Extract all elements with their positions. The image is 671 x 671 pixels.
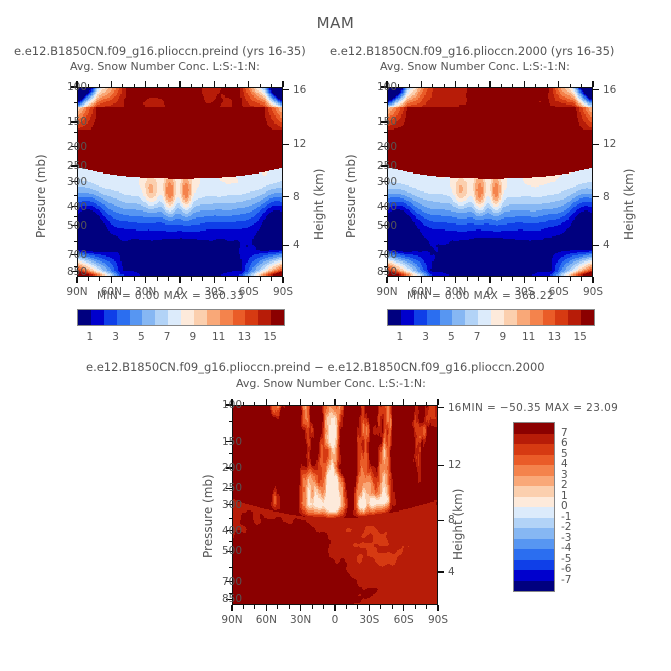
ytick-label-right: 12 <box>603 138 616 150</box>
xtick-minor-top <box>254 402 255 406</box>
xtick-label: 90N <box>376 286 397 298</box>
xtick-minor-top <box>346 402 347 406</box>
xtick-mark <box>179 277 180 283</box>
colorbar-swatch <box>258 310 271 325</box>
colorbar-swatch <box>514 518 554 529</box>
xtick-minor-top <box>237 84 238 88</box>
panel-diff-title: e.e12.B1850CN.f09_g16.plioccn.preind − e… <box>86 360 545 374</box>
xtick-minor-top <box>467 84 468 88</box>
xtick-minor <box>157 277 158 281</box>
xtick-minor-top <box>271 84 272 88</box>
xtick-minor-top <box>570 84 571 88</box>
xtick-minor <box>512 277 513 281</box>
ytick-label-right: 12 <box>448 459 461 471</box>
xtick-mark-top <box>214 81 215 87</box>
xtick-mark-top <box>524 81 525 87</box>
xtick-mark-top <box>369 399 370 405</box>
xtick-minor <box>357 605 358 609</box>
ytick-label-right: 16 <box>603 84 616 96</box>
xtick-minor-top <box>415 402 416 406</box>
ytick-minor-left <box>229 593 233 594</box>
ytick-label-right: 4 <box>448 566 455 578</box>
panel-diff-variable-title: Avg. Snow Number Conc. L:S:-1:N: <box>236 377 426 390</box>
heatmap-field <box>78 88 282 276</box>
ytick-mark-right <box>283 245 289 246</box>
colorbar-swatch <box>504 310 517 325</box>
ytick-minor-left <box>384 241 388 242</box>
xtick-mark <box>592 277 593 283</box>
xtick-mark-top <box>489 81 490 87</box>
ytick-label-right: 4 <box>293 239 300 251</box>
xtick-minor <box>237 277 238 281</box>
xtick-minor-top <box>398 84 399 88</box>
xtick-minor-top <box>202 84 203 88</box>
xtick-minor-top <box>547 84 548 88</box>
colorbar-swatch <box>555 310 568 325</box>
xtick-label: 30N <box>135 286 156 298</box>
panel-case1-plot-area[interactable] <box>77 87 283 277</box>
xtick-minor-top <box>380 402 381 406</box>
colorbar-swatch <box>514 549 554 560</box>
ytick-minor-left <box>74 132 78 133</box>
xtick-label: 30S <box>204 286 224 298</box>
xtick-mark <box>214 277 215 283</box>
xtick-minor <box>398 277 399 281</box>
ytick-minor-left <box>229 541 233 542</box>
xtick-minor <box>392 605 393 609</box>
xtick-minor <box>581 277 582 281</box>
xtick-mark <box>231 605 232 611</box>
xtick-minor-top <box>289 402 290 406</box>
panel-diff-plot-area[interactable] <box>232 405 438 605</box>
xtick-mark <box>111 277 112 283</box>
xtick-label: 60N <box>256 614 277 626</box>
colorbar-swatches-vertical <box>513 422 555 592</box>
xtick-minor <box>547 277 548 281</box>
xtick-minor <box>88 277 89 281</box>
xtick-mark-top <box>266 399 267 405</box>
xtick-minor <box>202 277 203 281</box>
xtick-label: 60N <box>411 286 432 298</box>
colorbar-tick-label: 13 <box>548 331 561 343</box>
xtick-label: 60S <box>239 286 259 298</box>
xtick-mark-top <box>145 81 146 87</box>
colorbar-swatch <box>514 455 554 466</box>
colorbar-tick-label: 3 <box>422 331 429 343</box>
xtick-label: 30N <box>445 286 466 298</box>
xtick-minor-top <box>432 84 433 88</box>
xtick-minor <box>432 277 433 281</box>
xtick-minor-top <box>191 84 192 88</box>
panel-case1-ylabel-left: Pressure (mb) <box>34 154 48 238</box>
colorbar-swatch <box>465 310 478 325</box>
xtick-label: 60S <box>394 614 414 626</box>
xtick-minor <box>243 605 244 609</box>
xtick-mark <box>455 277 456 283</box>
xtick-minor <box>380 605 381 609</box>
colorbar-swatch <box>491 310 504 325</box>
ytick-mark-right <box>438 520 444 521</box>
colorbar-swatch <box>543 310 556 325</box>
ytick-minor-left <box>74 102 78 103</box>
xtick-minor <box>254 605 255 609</box>
xtick-mark <box>437 605 438 611</box>
colorbar-swatch <box>207 310 220 325</box>
colorbar-swatches <box>77 309 285 326</box>
heatmap-field <box>233 406 437 604</box>
xtick-mark <box>558 277 559 283</box>
colorbar-swatch <box>117 310 130 325</box>
colorbar-swatch <box>91 310 104 325</box>
xtick-minor <box>289 605 290 609</box>
colorbar-tick-label: 7 <box>474 331 481 343</box>
xtick-label: 90N <box>66 286 87 298</box>
ytick-mark-right <box>593 245 599 246</box>
xtick-label: 60N <box>101 286 122 298</box>
colorbar-tick-label: 11 <box>212 331 225 343</box>
colorbar-swatch <box>181 310 194 325</box>
ytick-label-right: 12 <box>293 138 306 150</box>
xtick-minor-top <box>501 84 502 88</box>
xtick-minor <box>535 277 536 281</box>
xtick-minor-top <box>392 402 393 406</box>
xtick-label: 0 <box>332 614 339 626</box>
panel-diff-ylabel-left: Pressure (mb) <box>201 474 215 558</box>
xtick-mark <box>76 277 77 283</box>
xtick-mark-top <box>179 81 180 87</box>
ytick-minor-left <box>384 195 388 196</box>
xtick-minor-top <box>409 84 410 88</box>
xtick-mark-top <box>282 81 283 87</box>
colorbar-swatch <box>194 310 207 325</box>
ytick-minor-left <box>74 266 78 267</box>
xtick-minor-top <box>88 84 89 88</box>
ytick-label-right: 16 <box>293 84 306 96</box>
xtick-minor <box>277 605 278 609</box>
xtick-minor-top <box>122 84 123 88</box>
colorbar-swatch <box>514 476 554 487</box>
xtick-minor-top <box>134 84 135 88</box>
xtick-mark <box>266 605 267 611</box>
ytick-mark-right <box>593 196 599 197</box>
xtick-label: 30S <box>359 614 379 626</box>
colorbar-swatch <box>568 310 581 325</box>
colorbar-swatch <box>514 581 554 592</box>
xtick-mark <box>248 277 249 283</box>
xtick-label: 0 <box>487 286 494 298</box>
colorbar-swatch <box>517 310 530 325</box>
ytick-label-right: 8 <box>293 191 300 203</box>
colorbar-swatch <box>142 310 155 325</box>
xtick-minor-top <box>243 402 244 406</box>
colorbar-swatch <box>514 528 554 539</box>
xtick-minor <box>271 277 272 281</box>
colorbar-swatch <box>78 310 91 325</box>
colorbar-swatch <box>581 310 594 325</box>
xtick-mark-top <box>76 81 77 87</box>
season-title: MAM <box>0 14 671 32</box>
xtick-label: 60S <box>549 286 569 298</box>
colorbar-tick-label: 9 <box>500 331 507 343</box>
xtick-label: 30N <box>290 614 311 626</box>
xtick-minor <box>122 277 123 281</box>
ytick-minor-left <box>229 421 233 422</box>
ytick-minor-left <box>229 518 233 519</box>
colorbar-tick-label: 15 <box>263 331 276 343</box>
colorbar-swatch <box>401 310 414 325</box>
colorbar-swatch <box>427 310 440 325</box>
xtick-minor-top <box>157 84 158 88</box>
xtick-label: 30S <box>514 286 534 298</box>
xtick-label: 0 <box>177 286 184 298</box>
xtick-minor <box>134 277 135 281</box>
xtick-minor-top <box>357 402 358 406</box>
colorbar-tick-label: 11 <box>522 331 535 343</box>
colorbar-swatch <box>414 310 427 325</box>
ytick-mark-right <box>283 144 289 145</box>
xtick-minor <box>346 605 347 609</box>
ytick-label-right: 8 <box>448 514 455 526</box>
colorbar-tick-label: 5 <box>448 331 455 343</box>
xtick-minor-top <box>260 84 261 88</box>
xtick-mark <box>300 605 301 611</box>
xtick-minor-top <box>512 84 513 88</box>
colorbar-swatch <box>271 310 284 325</box>
colorbar-swatch <box>514 539 554 550</box>
xtick-mark-top <box>300 399 301 405</box>
xtick-mark-top <box>248 81 249 87</box>
colorbar-swatch <box>514 560 554 571</box>
xtick-minor <box>225 277 226 281</box>
panel-case2-ylabel-right: Height (km) <box>622 169 636 240</box>
colorbar-swatch <box>452 310 465 325</box>
colorbar-swatch <box>514 507 554 518</box>
colorbar-swatch <box>220 310 233 325</box>
xtick-mark-top <box>421 81 422 87</box>
ytick-mark-right <box>593 89 599 90</box>
panel-case1-ylabel-right: Height (km) <box>312 169 326 240</box>
xtick-mark-top <box>592 81 593 87</box>
colorbar-swatch <box>245 310 258 325</box>
ytick-minor-left <box>74 195 78 196</box>
xtick-minor-top <box>426 402 427 406</box>
colorbar-tick-label: -7 <box>561 574 571 586</box>
colorbar-swatch <box>168 310 181 325</box>
xtick-minor-top <box>444 84 445 88</box>
colorbar-swatch <box>530 310 543 325</box>
ytick-minor-left <box>74 216 78 217</box>
panel-diff-minmax: MIN = −50.35 MAX = 23.09 <box>462 402 618 414</box>
colorbar-tick-label: 13 <box>238 331 251 343</box>
ytick-mark-right <box>283 196 289 197</box>
xtick-minor <box>312 605 313 609</box>
ytick-mark-right <box>438 465 444 466</box>
colorbar-swatch <box>104 310 117 325</box>
xtick-mark-top <box>111 81 112 87</box>
xtick-minor <box>191 277 192 281</box>
colorbar-swatch <box>130 310 143 325</box>
colorbar-tick-label: 9 <box>190 331 197 343</box>
ytick-mark-right <box>283 89 289 90</box>
colorbar-swatch <box>514 570 554 581</box>
colorbar-swatch <box>514 434 554 445</box>
colorbar-swatch <box>514 444 554 455</box>
panel-case2-plot-area[interactable] <box>387 87 593 277</box>
xtick-label: 90N <box>221 614 242 626</box>
xtick-minor <box>501 277 502 281</box>
xtick-mark-top <box>334 399 335 405</box>
colorbar-swatch <box>514 486 554 497</box>
xtick-label: 90S <box>583 286 603 298</box>
ytick-minor-left <box>384 266 388 267</box>
xtick-minor-top <box>478 84 479 88</box>
colorbar-swatch <box>514 423 554 434</box>
xtick-minor <box>467 277 468 281</box>
heatmap-field <box>388 88 592 276</box>
xtick-mark <box>403 605 404 611</box>
xtick-mark <box>386 277 387 283</box>
xtick-minor <box>99 277 100 281</box>
panel-case1-variable-title: Avg. Snow Number Conc. L:S:-1:N: <box>70 60 260 73</box>
colorbar-swatch <box>514 497 554 508</box>
xtick-minor-top <box>323 402 324 406</box>
colorbar-swatch <box>155 310 168 325</box>
ytick-mark-right <box>438 571 444 572</box>
colorbar-swatch <box>388 310 401 325</box>
xtick-minor-top <box>312 402 313 406</box>
panel-case2-title: e.e12.B1850CN.f09_g16.plioccn.2000 (yrs … <box>330 44 614 58</box>
xtick-minor <box>478 277 479 281</box>
ytick-label-right: 4 <box>603 239 610 251</box>
ytick-minor-left <box>229 567 233 568</box>
xtick-label: 90S <box>428 614 448 626</box>
colorbar-tick-label: 5 <box>138 331 145 343</box>
xtick-mark-top <box>403 399 404 405</box>
ytick-mark-right <box>593 144 599 145</box>
xtick-minor <box>570 277 571 281</box>
xtick-minor <box>415 605 416 609</box>
ytick-minor-left <box>384 132 388 133</box>
ytick-minor-left <box>384 102 388 103</box>
xtick-minor <box>426 605 427 609</box>
xtick-mark <box>421 277 422 283</box>
ytick-minor-left <box>384 216 388 217</box>
ytick-minor-left <box>229 453 233 454</box>
xtick-mark <box>369 605 370 611</box>
xtick-minor-top <box>225 84 226 88</box>
xtick-mark-top <box>437 399 438 405</box>
xtick-minor <box>260 277 261 281</box>
colorbar-swatch <box>233 310 246 325</box>
colorbar-tick-label: 1 <box>397 331 404 343</box>
xtick-label: 90S <box>273 286 293 298</box>
xtick-minor-top <box>535 84 536 88</box>
xtick-minor-top <box>581 84 582 88</box>
colorbar-swatches <box>387 309 595 326</box>
xtick-minor-top <box>99 84 100 88</box>
xtick-mark-top <box>455 81 456 87</box>
xtick-minor <box>168 277 169 281</box>
xtick-minor-top <box>168 84 169 88</box>
ytick-label-right: 16 <box>448 402 461 414</box>
panel-case2-variable-title: Avg. Snow Number Conc. L:S:-1:N: <box>380 60 570 73</box>
colorbar-tick-label: 7 <box>164 331 171 343</box>
xtick-mark-top <box>386 81 387 87</box>
xtick-minor <box>409 277 410 281</box>
ytick-minor-left <box>74 241 78 242</box>
colorbar-tick-label: 1 <box>87 331 94 343</box>
xtick-minor-top <box>277 402 278 406</box>
ytick-label-right: 8 <box>603 191 610 203</box>
ytick-mark-right <box>438 407 444 408</box>
panel-case2-ylabel-left: Pressure (mb) <box>344 154 358 238</box>
colorbar-swatch <box>514 465 554 476</box>
xtick-mark-top <box>558 81 559 87</box>
xtick-mark-top <box>231 399 232 405</box>
xtick-minor <box>323 605 324 609</box>
xtick-mark <box>334 605 335 611</box>
colorbar-tick-label: 15 <box>573 331 586 343</box>
xtick-mark <box>282 277 283 283</box>
colorbar-swatch <box>440 310 453 325</box>
xtick-mark <box>524 277 525 283</box>
xtick-mark <box>489 277 490 283</box>
colorbar-swatch <box>478 310 491 325</box>
xtick-mark <box>145 277 146 283</box>
xtick-minor <box>444 277 445 281</box>
panel-case1-title: e.e12.B1850CN.f09_g16.plioccn.preind (yr… <box>14 44 306 58</box>
colorbar-tick-label: 3 <box>112 331 119 343</box>
